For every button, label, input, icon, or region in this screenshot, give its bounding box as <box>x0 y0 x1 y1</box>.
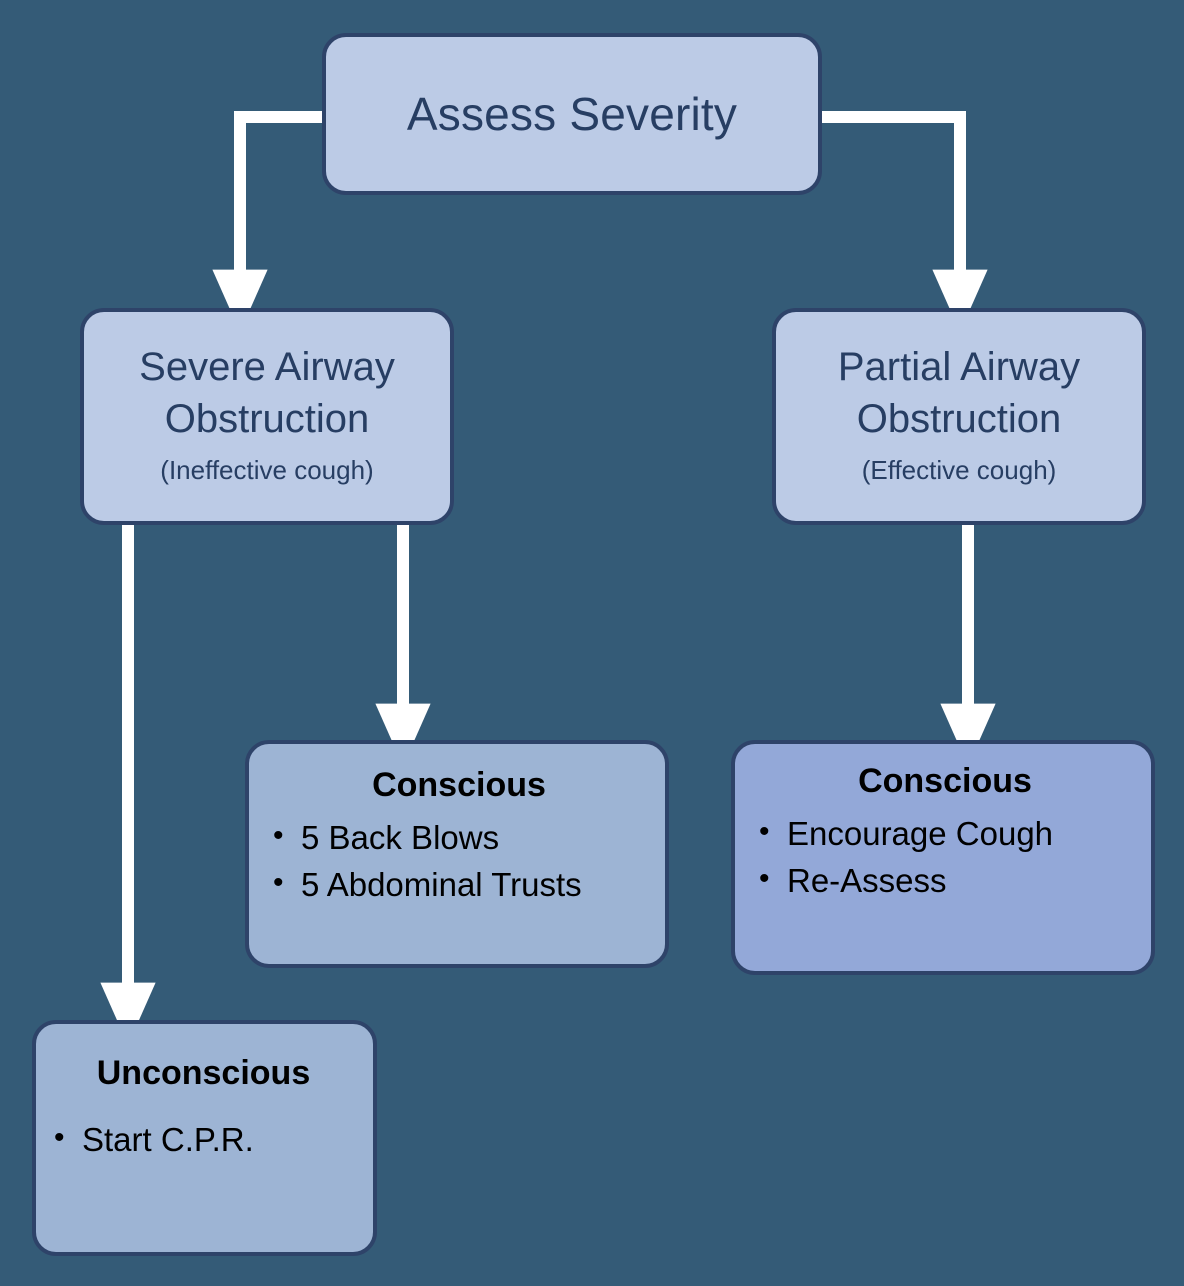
node-partial-conscious[interactable]: Conscious Encourage Cough Re-Assess <box>731 740 1155 975</box>
node-severe-unconscious[interactable]: Unconscious Start C.P.R. <box>32 1020 377 1256</box>
list-item: 5 Abdominal Trusts <box>271 868 647 901</box>
list-item: 5 Back Blows <box>271 821 647 854</box>
node-partial-airway-obstruction-label: Partial Airway Obstruction <box>838 341 1080 445</box>
list-item: Encourage Cough <box>757 817 1133 850</box>
node-assess-severity-label: Assess Severity <box>407 90 737 138</box>
list-item: Re-Assess <box>757 864 1133 897</box>
node-severe-unconscious-list: Start C.P.R. <box>52 1097 355 1170</box>
node-severe-conscious-list: 5 Back Blows 5 Abdominal Trusts <box>271 809 647 915</box>
flowchart-canvas: Assess Severity Severe Airway Obstructio… <box>0 0 1184 1286</box>
node-assess-severity[interactable]: Assess Severity <box>322 33 822 195</box>
edge-root-to-partial <box>822 117 960 272</box>
node-severe-conscious[interactable]: Conscious 5 Back Blows 5 Abdominal Trust… <box>245 740 669 968</box>
node-partial-airway-obstruction[interactable]: Partial Airway Obstruction (Effective co… <box>772 308 1146 525</box>
node-severe-conscious-heading: Conscious <box>271 766 647 805</box>
node-severe-airway-obstruction[interactable]: Severe Airway Obstruction (Ineffective c… <box>80 308 454 525</box>
node-severe-unconscious-heading: Unconscious <box>52 1054 355 1093</box>
node-partial-conscious-list: Encourage Cough Re-Assess <box>757 805 1133 911</box>
node-severe-airway-obstruction-label: Severe Airway Obstruction <box>139 341 395 445</box>
node-partial-airway-obstruction-sublabel: (Effective cough) <box>862 455 1057 486</box>
node-partial-conscious-heading: Conscious <box>757 762 1133 801</box>
node-severe-airway-obstruction-sublabel: (Ineffective cough) <box>160 455 373 486</box>
edge-root-to-severe <box>240 117 322 272</box>
list-item: Start C.P.R. <box>52 1123 355 1156</box>
